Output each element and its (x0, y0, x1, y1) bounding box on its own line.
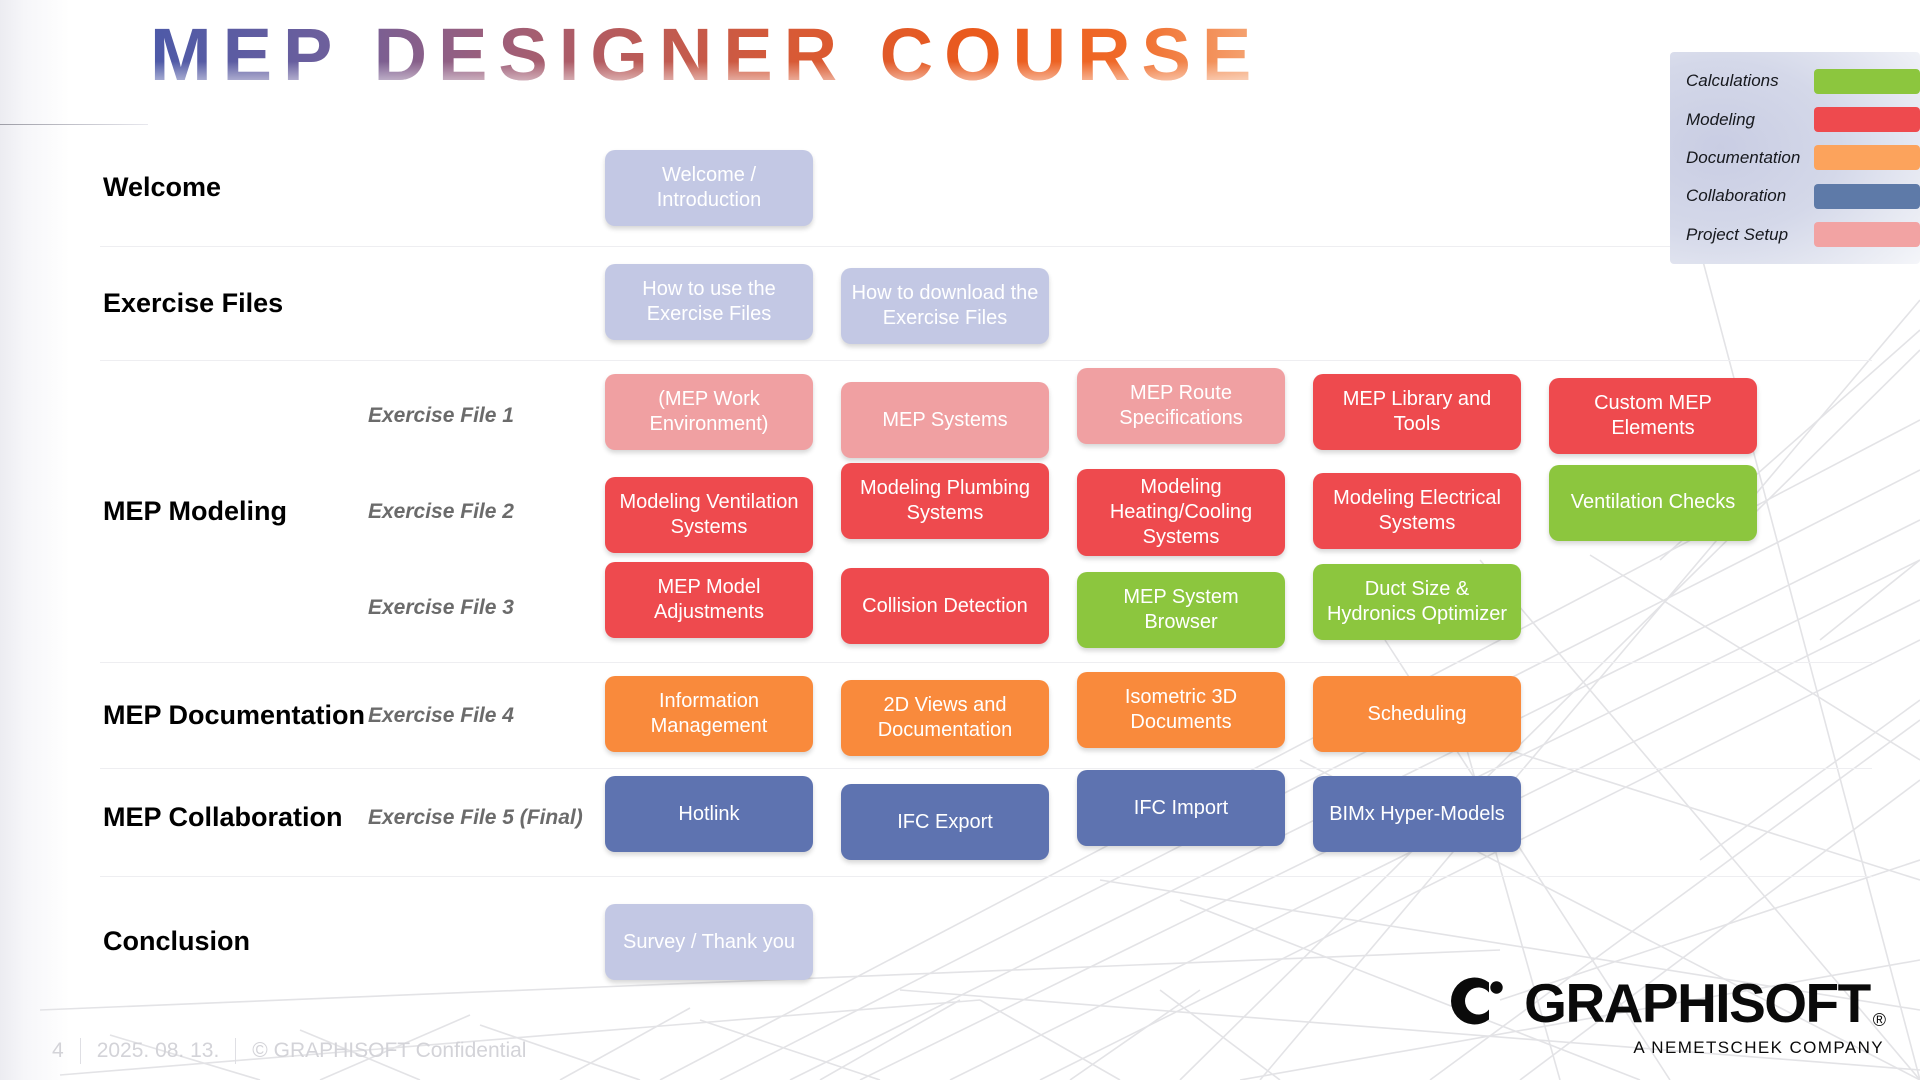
slide-footer: 4 2025. 08. 13. © GRAPHISOFT Confidentia… (52, 1038, 526, 1064)
slide-date: 2025. 08. 13. (97, 1039, 220, 1063)
course-topic-card[interactable]: MEP Route Specifications (1077, 368, 1285, 444)
roadmap-row: Exercise FilesHow to use the Exercise Fi… (0, 256, 1920, 352)
card-track: How to use the Exercise FilesHow to down… (605, 264, 1920, 344)
course-topic-card[interactable]: MEP System Browser (1077, 572, 1285, 648)
card-track: Modeling Ventilation SystemsModeling Plu… (605, 469, 1920, 556)
roadmap-band: Exercise FilesHow to use the Exercise Fi… (0, 246, 1920, 360)
course-topic-card[interactable]: How to download the Exercise Files (841, 268, 1049, 344)
legend-item-label: Project Setup (1686, 225, 1812, 245)
legend-item-label: Documentation (1686, 148, 1812, 168)
legend-swatch-collaboration (1814, 184, 1920, 209)
legend-swatch-documentation (1814, 145, 1920, 170)
course-topic-card[interactable]: How to use the Exercise Files (605, 264, 813, 340)
legend-item: Modeling (1686, 102, 1920, 138)
graphisoft-logo: GRAPHISOFT ® A NEMETSCHEK COMPANY (1444, 972, 1886, 1058)
card-track: Information Management2D Views and Docum… (605, 676, 1920, 756)
card-track: Survey / Thank you (605, 904, 1920, 980)
footer-divider (235, 1038, 236, 1064)
legend-item-label: Calculations (1686, 71, 1812, 91)
band-divider (100, 768, 1872, 769)
page-title: MEP DESIGNER COURSE (150, 12, 1262, 97)
section-label: MEP Documentation (0, 701, 368, 731)
course-topic-card[interactable]: Survey / Thank you (605, 904, 813, 980)
course-topic-card[interactable]: Modeling Ventilation Systems (605, 477, 813, 553)
course-topic-card[interactable]: BIMx Hyper-Models (1313, 776, 1521, 852)
section-label: Conclusion (0, 927, 368, 957)
course-topic-card[interactable]: IFC Import (1077, 770, 1285, 846)
card-track: HotlinkIFC ExportIFC ImportBIMx Hyper-Mo… (605, 776, 1920, 860)
course-topic-card[interactable]: Modeling Electrical Systems (1313, 473, 1521, 549)
legend-swatch-modeling (1814, 107, 1920, 132)
roadmap-band: WelcomeWelcome / Introduction (0, 132, 1920, 246)
course-topic-card[interactable]: Modeling Heating/Cooling Systems (1077, 469, 1285, 556)
course-topic-card[interactable]: MEP Systems (841, 382, 1049, 458)
legend-item: Collaboration (1686, 178, 1920, 214)
card-track: MEP Model AdjustmentsCollision Detection… (605, 568, 1920, 648)
course-topic-card[interactable]: Scheduling (1313, 676, 1521, 752)
logo-tagline: A NEMETSCHEK COMPANY (1633, 1038, 1884, 1058)
course-topic-card[interactable]: Collision Detection (841, 568, 1049, 644)
course-topic-card[interactable]: Welcome / Introduction (605, 150, 813, 226)
course-topic-card[interactable]: Modeling Plumbing Systems (841, 463, 1049, 539)
course-topic-card[interactable]: Isometric 3D Documents (1077, 672, 1285, 748)
legend-item-label: Modeling (1686, 110, 1812, 130)
legend-item: Project Setup (1686, 217, 1920, 253)
course-topic-card[interactable]: MEP Library and Tools (1313, 374, 1521, 450)
course-legend: Calculations Modeling Documentation Coll… (1670, 52, 1920, 264)
roadmap-row: MEP CollaborationExercise File 5 (Final)… (0, 770, 1920, 866)
course-topic-card[interactable]: Ventilation Checks (1549, 465, 1757, 541)
legend-swatch-calculations (1814, 69, 1920, 94)
exercise-file-label: Exercise File 1 (368, 404, 605, 428)
footer-divider (80, 1038, 81, 1064)
course-topic-card[interactable]: MEP Model Adjustments (605, 562, 813, 638)
course-topic-card[interactable]: Custom MEP Elements (1549, 378, 1757, 454)
section-label: MEP Collaboration (0, 803, 368, 833)
logo-wordmark: GRAPHISOFT (1524, 976, 1870, 1031)
slide-number: 4 (52, 1039, 64, 1063)
course-topic-card[interactable]: Duct Size & Hydronics Optimizer (1313, 564, 1521, 640)
card-track: (MEP Work Environment)MEP SystemsMEP Rou… (605, 374, 1920, 458)
band-divider (100, 246, 1872, 247)
slide-canvas: MEP DESIGNER COURSE Calculations Modelin… (0, 0, 1920, 1080)
band-divider (100, 662, 1872, 663)
section-label: Exercise Files (0, 289, 368, 319)
exercise-file-label: Exercise File 5 (Final) (368, 806, 605, 830)
legend-item: Calculations (1686, 63, 1920, 99)
roadmap-row: WelcomeWelcome / Introduction (0, 140, 1920, 236)
exercise-file-label: Exercise File 4 (368, 704, 605, 728)
roadmap-row: Exercise File 1(MEP Work Environment)MEP… (0, 368, 1920, 464)
roadmap-row: MEP DocumentationExercise File 4Informat… (0, 668, 1920, 764)
legend-item: Documentation (1686, 140, 1920, 176)
section-label: Welcome (0, 173, 368, 203)
roadmap-row: Exercise File 3MEP Model AdjustmentsColl… (0, 560, 1920, 656)
course-topic-card[interactable]: (MEP Work Environment) (605, 374, 813, 450)
roadmap-band: MEP CollaborationExercise File 5 (Final)… (0, 768, 1920, 876)
top-left-rule (0, 124, 148, 125)
band-divider (100, 360, 1872, 361)
course-roadmap-grid: WelcomeWelcome / IntroductionExercise Fi… (0, 132, 1920, 1000)
legend-item-label: Collaboration (1686, 186, 1812, 206)
legend-swatch-project-setup (1814, 222, 1920, 247)
course-topic-card[interactable]: 2D Views and Documentation (841, 680, 1049, 756)
exercise-file-label: Exercise File 2 (368, 500, 605, 524)
graphisoft-c-mark-icon (1444, 972, 1506, 1035)
roadmap-band: MEP DocumentationExercise File 4Informat… (0, 662, 1920, 768)
confidentiality-notice: © GRAPHISOFT Confidential (252, 1039, 526, 1063)
course-topic-card[interactable]: IFC Export (841, 784, 1049, 860)
section-label: MEP Modeling (0, 497, 368, 527)
course-topic-card[interactable]: Hotlink (605, 776, 813, 852)
exercise-file-label: Exercise File 3 (368, 596, 605, 620)
band-divider (100, 876, 1872, 877)
roadmap-band: Exercise File 1(MEP Work Environment)MEP… (0, 360, 1920, 662)
course-topic-card[interactable]: Information Management (605, 676, 813, 752)
roadmap-row: MEP ModelingExercise File 2Modeling Vent… (0, 464, 1920, 560)
registered-trademark-icon: ® (1873, 1010, 1886, 1035)
